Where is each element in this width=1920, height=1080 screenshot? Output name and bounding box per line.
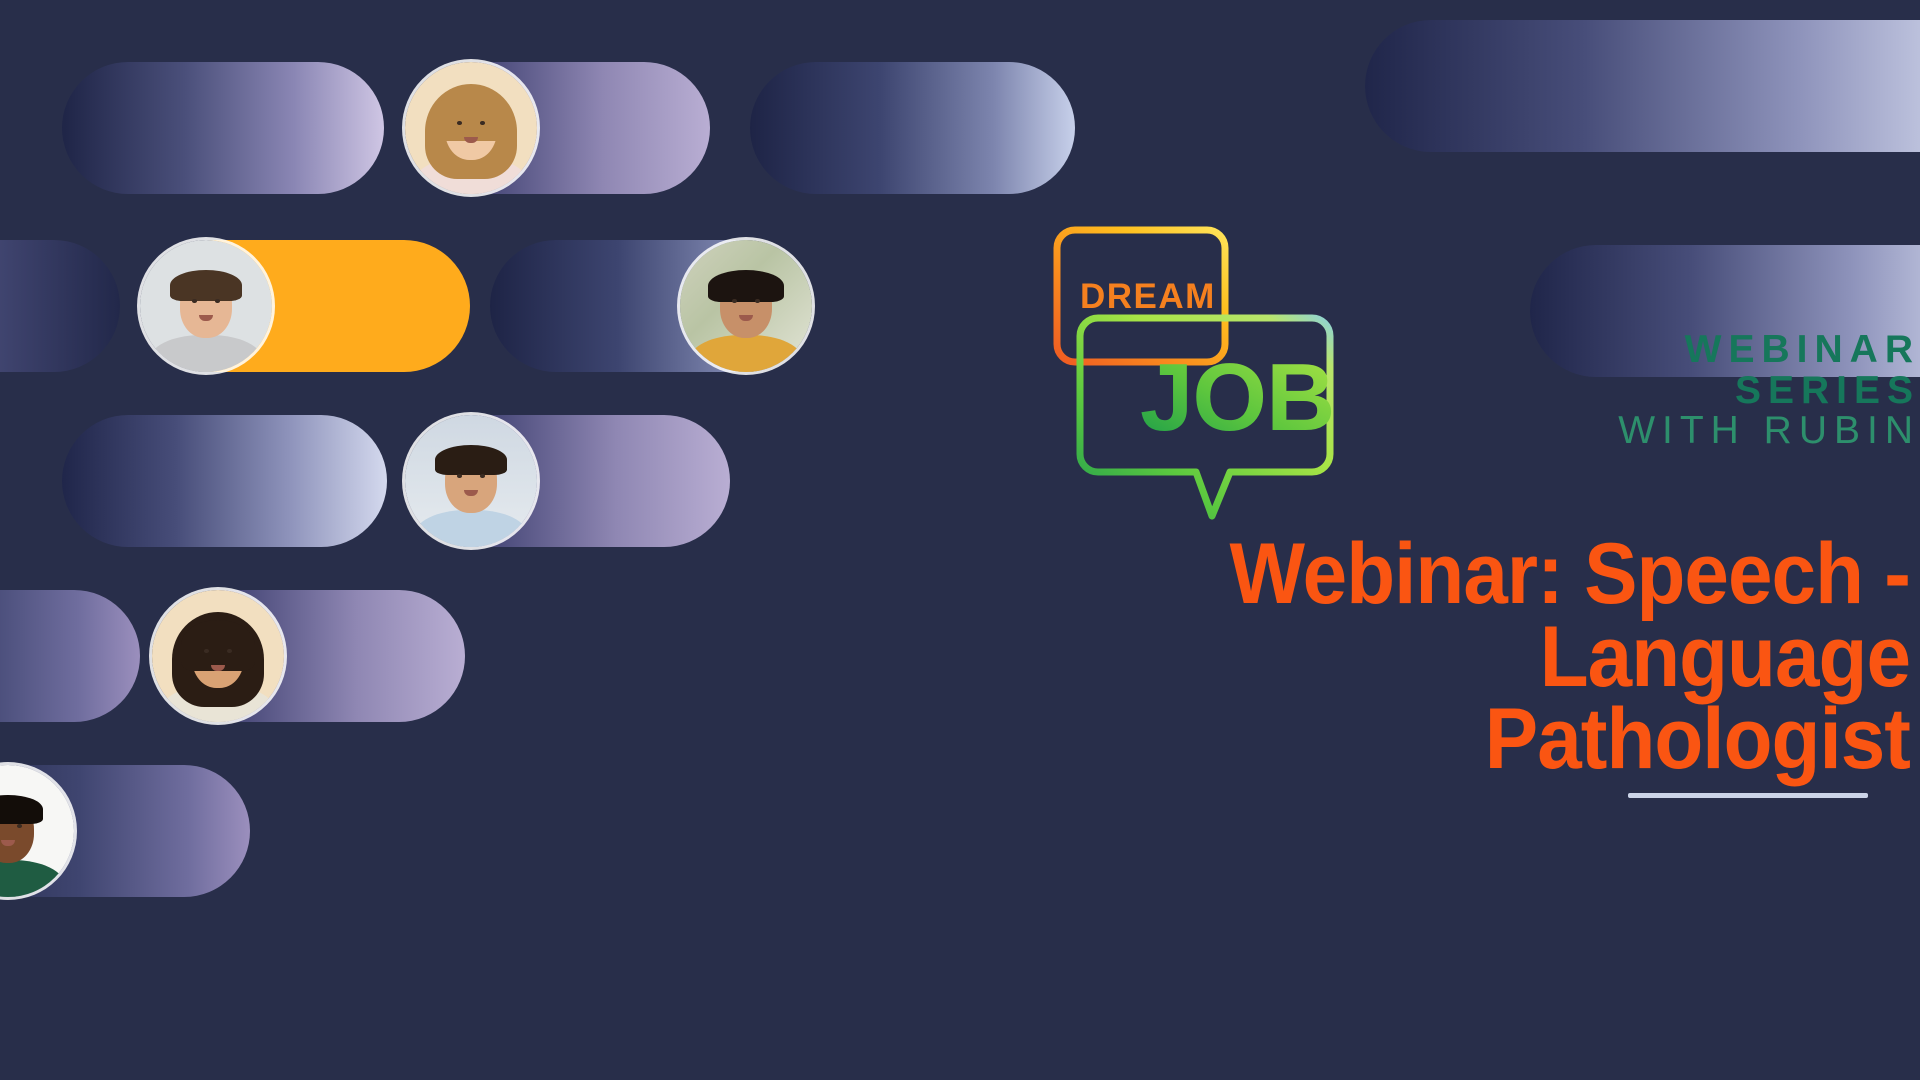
avatar-eye xyxy=(480,121,485,125)
avatar-torso xyxy=(414,510,528,547)
series-line-webinar: WEBINAR xyxy=(1210,330,1920,371)
avatar-torso xyxy=(689,335,803,372)
pill-row3-a xyxy=(62,415,387,547)
avatar-hair xyxy=(708,270,784,302)
avatar-man-shirt xyxy=(405,415,537,547)
avatar-hair xyxy=(170,270,242,301)
avatar-man-vest xyxy=(0,765,74,897)
avatar-hair xyxy=(181,620,255,671)
pill-row4-left-edge xyxy=(0,590,140,722)
dream-word: DREAM xyxy=(1080,277,1216,316)
avatar-eye xyxy=(17,824,22,828)
content-column: DREAM JOB WEBINAR SERIES WITH RUBIN Webi… xyxy=(1040,0,1920,1080)
page-title: Webinar: Speech - Language Pathologist xyxy=(1101,533,1910,781)
pill-row1-a xyxy=(62,62,384,194)
webinar-series-lockup: WEBINAR SERIES WITH RUBIN xyxy=(1210,330,1920,452)
avatar-eye xyxy=(227,649,232,653)
avatar-eye xyxy=(755,299,760,303)
avatar-torso xyxy=(149,335,263,372)
avatar-man-smiling xyxy=(140,240,272,372)
series-line-with-rubin: WITH RUBIN xyxy=(1210,411,1920,452)
avatar-woman-blonde xyxy=(405,62,537,194)
avatar-man-outdoors xyxy=(680,240,812,372)
avatar-girl-backpack xyxy=(152,590,284,722)
title-underline-rule xyxy=(1628,793,1868,798)
pill-row1-c xyxy=(750,62,1075,194)
series-line-series: SERIES xyxy=(1210,371,1920,412)
avatar-eye xyxy=(480,474,485,478)
avatar-hair xyxy=(432,92,510,140)
avatar-eye xyxy=(215,299,220,303)
pill-row2-left-edge xyxy=(0,240,120,372)
avatar-hair xyxy=(435,445,507,475)
poster-canvas: DREAM JOB WEBINAR SERIES WITH RUBIN Webi… xyxy=(0,0,1920,1080)
